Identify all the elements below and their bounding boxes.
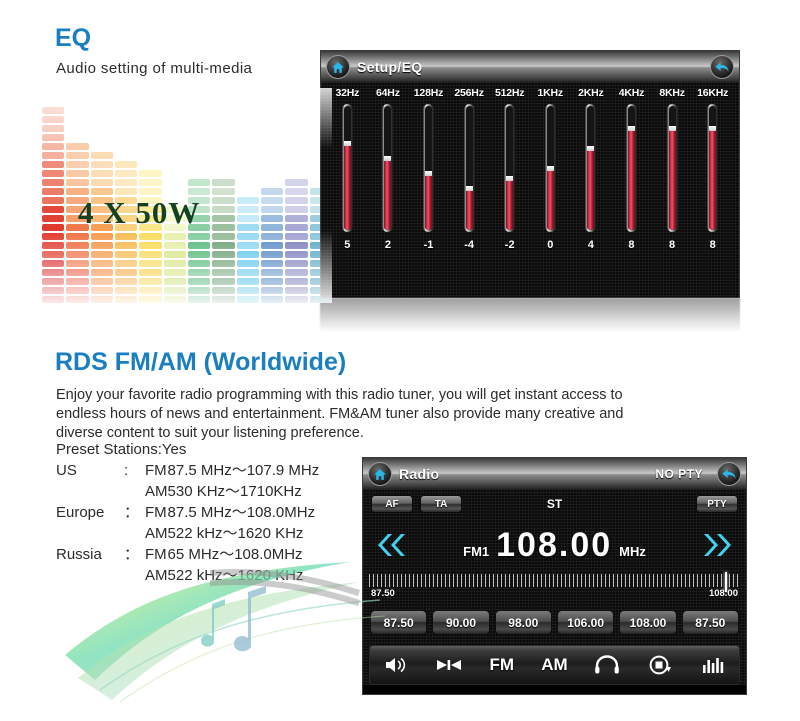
eq-band-label: 8KHz [659, 87, 684, 99]
region-am-range: 522 kHz～1620 KHz [168, 523, 320, 544]
spectrum-cell [188, 260, 210, 267]
tuning-position-marker [725, 572, 727, 592]
spectrum-cell [285, 188, 307, 195]
eq-slider-knob[interactable] [506, 176, 513, 181]
spectrum-cell [164, 287, 186, 294]
spectrum-cell [237, 278, 259, 285]
spectrum-cell [42, 224, 64, 231]
back-arrow-icon-glyph [721, 467, 737, 481]
spectrum-cell [115, 251, 137, 258]
spectrum-cell [91, 296, 113, 303]
band-tag: FM1 [463, 544, 489, 559]
spectrum-cell [212, 197, 234, 204]
eq-band: 16KHz8 [692, 87, 733, 298]
spectrum-cell [66, 152, 88, 159]
region-fm-band: FM [139, 502, 168, 523]
rds-heading: RDS FM/AM (Worldwide) [55, 348, 346, 377]
double-chevron-left-icon[interactable] [373, 530, 407, 560]
spectrum-cell [237, 206, 259, 213]
spectrum-cell [91, 287, 113, 294]
spectrum-cell [261, 233, 283, 240]
eq-slider-groove [384, 106, 391, 230]
eq-band-label: 512Hz [495, 87, 524, 99]
spectrum-cell [115, 269, 137, 276]
region-name: US [56, 460, 124, 481]
pty-button[interactable]: PTY [696, 495, 738, 513]
spectrum-cell [91, 242, 113, 249]
eq-panel-reflection [320, 298, 740, 332]
spectrum-cell [212, 278, 234, 285]
eq-slider-4[interactable] [504, 104, 515, 232]
eq-band: 8KHz8 [652, 87, 693, 298]
spectrum-cell [42, 152, 64, 159]
eq-band-value: -2 [505, 239, 515, 251]
spectrum-cell [66, 260, 88, 267]
tuning-scale-ticks [369, 574, 740, 587]
spectrum-cell [261, 260, 283, 267]
spectrum-cell [285, 296, 307, 303]
eq-slider-area: 32Hz564Hz2128Hz-1256Hz-4512Hz-21KHz02KHz… [321, 83, 739, 298]
region-fm-band: FM [139, 460, 168, 481]
spectrum-cell [188, 287, 210, 294]
eq-slider-knob[interactable] [587, 146, 594, 151]
spectrum-cell [42, 242, 64, 249]
spectrum-cell [42, 233, 64, 240]
spectrum-cell [91, 170, 113, 177]
spectrum-cell [212, 269, 234, 276]
spectrum-cell [91, 269, 113, 276]
spectrum-cell [212, 242, 234, 249]
spectrum-cell [139, 251, 161, 258]
spectrum-cell [115, 242, 137, 249]
spectrum-cell [91, 251, 113, 258]
back-arrow-icon-glyph [714, 60, 730, 74]
spectrum-cell [66, 242, 88, 249]
spectrum-cell [91, 179, 113, 186]
spectrum-cell [115, 296, 137, 303]
eq-slider-groove [669, 106, 676, 230]
spectrum-cell [164, 233, 186, 240]
tuning-scale[interactable]: 87.50 108.00 [363, 574, 746, 605]
af-button[interactable]: AF [371, 495, 413, 513]
spectrum-cell [42, 278, 64, 285]
spectrum-cell [237, 224, 259, 231]
region-colon: ： [124, 502, 139, 523]
spectrum-cell [188, 242, 210, 249]
eq-heading: EQ [55, 24, 91, 53]
spectrum-cell [42, 287, 64, 294]
spectrum-cell [42, 179, 64, 186]
spectrum-cell [115, 179, 137, 186]
region-name: Europe [56, 502, 124, 523]
spectrum-cell [164, 296, 186, 303]
spectrum-cell [237, 215, 259, 222]
radio-device-panel: Radio NO PTY AF TA ST PTY FM1 108.00 MHz [362, 457, 747, 695]
eq-slider-6[interactable] [585, 104, 596, 232]
spectrum-column [237, 88, 259, 303]
eq-band-label: 64Hz [376, 87, 400, 99]
region-fm-range: 87.5 MHz～107.9 MHz [168, 460, 320, 481]
spectrum-cell [115, 287, 137, 294]
spectrum-cell [91, 152, 113, 159]
spectrum-cell [237, 269, 259, 276]
double-chevron-right-icon[interactable] [702, 530, 736, 560]
region-fm-range: 87.5 MHz～108.0MHz [168, 502, 320, 523]
spectrum-cell [42, 197, 64, 204]
frequency-unit: MHz [619, 544, 646, 559]
eq-band: 512Hz-2 [489, 87, 530, 298]
ta-button[interactable]: TA [420, 495, 462, 513]
spectrum-cell [212, 179, 234, 186]
spectrum-cell [42, 116, 64, 123]
radio-title-text: Radio [399, 466, 439, 482]
eq-slider-7[interactable] [626, 104, 637, 232]
spectrum-cell [261, 251, 283, 258]
radio-titlebar: Radio NO PTY [363, 458, 746, 490]
spectrum-cell [285, 197, 307, 204]
spectrum-cell [42, 251, 64, 258]
radio-body: AF TA ST PTY FM1 108.00 MHz [363, 490, 746, 685]
frequency-center: FM1 108.00 MHz [407, 528, 702, 562]
spectrum-cell [285, 215, 307, 222]
spectrum-cell [42, 206, 64, 213]
eq-slider-groove [547, 106, 554, 230]
eq-slider-knob[interactable] [547, 166, 554, 171]
headphone-icon[interactable] [584, 650, 630, 680]
spectrum-cell [115, 233, 137, 240]
eq-slider-fill [628, 126, 635, 230]
spectrum-cell [285, 233, 307, 240]
spectrum-cell [42, 143, 64, 150]
am-button[interactable]: AM [531, 650, 577, 680]
region-row: US:FM87.5 MHz～107.9 MHz [56, 460, 319, 481]
station-preset-3[interactable]: 98.00 [495, 610, 552, 635]
eq-slider-fill [506, 176, 513, 230]
spectrum-cell [66, 161, 88, 168]
spectrum-cell [261, 206, 283, 213]
region-row: AM522 kHz～1620 KHz [56, 523, 319, 544]
spectrum-cell [212, 260, 234, 267]
eq-band: 1KHz0 [530, 87, 571, 298]
spectrum-cell [139, 242, 161, 249]
spectrum-cell [237, 296, 259, 303]
spectrum-cell [212, 206, 234, 213]
rds-paragraph: Enjoy your favorite radio programming wi… [56, 386, 666, 443]
eq-band-label: 16KHz [697, 87, 728, 99]
eq-band-value: -4 [464, 239, 474, 251]
spectrum-cell [42, 188, 64, 195]
eq-band-value: 8 [628, 239, 634, 251]
spectrum-cell [261, 296, 283, 303]
spectrum-cell [66, 251, 88, 258]
eq-band: 256Hz-4 [449, 87, 490, 298]
radio-bottom-toolbar: FMAM [369, 645, 740, 685]
spectrum-cell [139, 269, 161, 276]
region-row: AM530 KHz～1710KHz [56, 481, 319, 502]
spectrum-cell [285, 206, 307, 213]
spectrum-cell [66, 179, 88, 186]
eq-band-label: 256Hz [454, 87, 483, 99]
spectrum-cell [261, 188, 283, 195]
spectrum-cell [237, 197, 259, 204]
eq-band: 32Hz5 [327, 87, 368, 298]
eq-device-panel: Setup/EQ 32Hz564Hz2128Hz-1256Hz-4512Hz-2… [320, 50, 740, 298]
spectrum-cell [164, 269, 186, 276]
eq-slider-fill [425, 171, 432, 230]
spectrum-cell [139, 233, 161, 240]
spectrum-cell [42, 125, 64, 132]
pty-status-text: NO PTY [655, 467, 703, 481]
eq-band-value: 4 [588, 239, 594, 251]
spectrum-cell [115, 170, 137, 177]
eq-slider-fill [669, 126, 676, 230]
spectrum-cell [188, 296, 210, 303]
station-preset-5[interactable]: 108.00 [619, 610, 676, 635]
eq-slider-knob[interactable] [628, 126, 635, 131]
eq-slider-fill [587, 146, 594, 230]
eq-band: 64Hz2 [368, 87, 409, 298]
eq-band-label: 4KHz [619, 87, 644, 99]
spectrum-cell [212, 287, 234, 294]
back-arrow-icon[interactable] [717, 462, 741, 486]
spectrum-cell [261, 224, 283, 231]
eq-slider-3[interactable] [464, 104, 475, 232]
spectrum-cell [188, 188, 210, 195]
eq-slider-fill [709, 126, 716, 230]
fm-button[interactable]: FM [479, 650, 525, 680]
eq-titlebar: Setup/EQ [321, 51, 739, 83]
spectrum-cell [164, 251, 186, 258]
eq-slider-groove [709, 106, 716, 230]
spectrum-cell [285, 287, 307, 294]
eq-band-value: 8 [669, 239, 675, 251]
spectrum-cell [66, 278, 88, 285]
frequency-value: 108.00 [496, 528, 612, 562]
station-preset-row: 87.5090.0098.00106.00108.0087.50 [363, 605, 746, 641]
spectrum-cell [237, 233, 259, 240]
spectrum-cell [212, 251, 234, 258]
eq-slider-knob[interactable] [669, 126, 676, 131]
spectrum-cell [237, 287, 259, 294]
spectrum-cell [188, 269, 210, 276]
spectrum-cell [188, 233, 210, 240]
home-icon-glyph [331, 61, 345, 74]
eq-band-row: 32Hz564Hz2128Hz-1256Hz-4512Hz-21KHz02KHz… [327, 87, 733, 298]
eq-slider-groove [628, 106, 635, 230]
spectrum-cell [285, 269, 307, 276]
eq-band-value: 5 [344, 239, 350, 251]
eq-slider-knob[interactable] [344, 141, 351, 146]
eq-band-label: 2KHz [578, 87, 603, 99]
spectrum-cell [66, 233, 88, 240]
spectrum-cell [42, 260, 64, 267]
rds-controls-row: AF TA ST PTY [363, 490, 746, 518]
spectrum-cell [115, 278, 137, 285]
eq-slider-knob[interactable] [425, 171, 432, 176]
station-preset-6[interactable]: 87.50 [682, 610, 739, 635]
eq-slider-5[interactable] [545, 104, 556, 232]
spectrum-cell [91, 260, 113, 267]
eq-slider-knob[interactable] [384, 156, 391, 161]
eq-band-value: 0 [547, 239, 553, 251]
station-preset-4[interactable]: 106.00 [557, 610, 614, 635]
spectrum-cell [212, 296, 234, 303]
equalizer-icon[interactable] [690, 650, 736, 680]
spectrum-column [285, 88, 307, 303]
power-rating-caption: 4 X 50W [78, 195, 200, 231]
spectrum-cell [91, 161, 113, 168]
spectrum-cell [188, 251, 210, 258]
eq-band-label: 1KHz [538, 87, 563, 99]
eq-band-value: 2 [385, 239, 391, 251]
spectrum-cell [42, 170, 64, 177]
preset-stations-line: Preset Stations:Yes [56, 441, 186, 458]
eq-slider-knob[interactable] [466, 186, 473, 191]
spectrum-cell [66, 188, 88, 195]
eq-slider-9[interactable] [707, 104, 718, 232]
eq-slider-groove [466, 106, 473, 230]
region-row: Europe：FM87.5 MHz～108.0MHz [56, 502, 319, 523]
spectrum-cell [261, 242, 283, 249]
scale-max-label: 108.00 [709, 588, 738, 599]
eq-slider-fill [384, 156, 391, 230]
eq-slider-fill [466, 186, 473, 230]
home-icon[interactable] [368, 462, 392, 486]
spectrum-cell [42, 296, 64, 303]
spectrum-column [212, 88, 234, 303]
spectrum-cell [139, 287, 161, 294]
eq-slider-8[interactable] [667, 104, 678, 232]
home-icon[interactable] [326, 55, 350, 79]
eq-band: 2KHz4 [571, 87, 612, 298]
region-am-range: 530 KHz～1710KHz [168, 481, 320, 502]
spectrum-cell [261, 269, 283, 276]
spectrum-cell [237, 260, 259, 267]
spectrum-cell [115, 161, 137, 168]
spectrum-cell [188, 179, 210, 186]
frequency-display-row: FM1 108.00 MHz [363, 518, 746, 572]
spectrum-cell [115, 260, 137, 267]
spectrum-cell [139, 188, 161, 195]
spectrum-cell [285, 242, 307, 249]
spectrum-cell [42, 161, 64, 168]
spectrum-cell [212, 233, 234, 240]
spectrum-cell [42, 215, 64, 222]
spectrum-cell [212, 215, 234, 222]
spectrum-cell [237, 251, 259, 258]
spectrum-cell [66, 170, 88, 177]
spectrum-cell [212, 188, 234, 195]
eq-band: 4KHz8 [611, 87, 652, 298]
tuning-scale-labels: 87.50 108.00 [369, 588, 740, 599]
spectrum-cell [115, 188, 137, 195]
eq-slider-fill [547, 166, 554, 230]
spectrum-cell [261, 215, 283, 222]
eq-slider-1[interactable] [382, 104, 393, 232]
home-icon-glyph [373, 468, 387, 481]
eq-slider-fill [344, 141, 351, 230]
scan-loop-icon[interactable] [637, 650, 683, 680]
spectrum-cell [66, 296, 88, 303]
station-preset-2[interactable]: 90.00 [432, 610, 489, 635]
eq-band-label: 128Hz [414, 87, 443, 99]
eq-slider-2[interactable] [423, 104, 434, 232]
eq-slider-groove [506, 106, 513, 230]
balance-icon[interactable] [426, 650, 472, 680]
spectrum-cell [139, 260, 161, 267]
spectrum-cell [285, 278, 307, 285]
spectrum-cell [139, 179, 161, 186]
spectrum-cell [261, 278, 283, 285]
spectrum-cell [42, 107, 64, 114]
spectrum-cell [285, 251, 307, 258]
spectrum-cell [164, 278, 186, 285]
eq-slider-knob[interactable] [709, 126, 716, 131]
spectrum-cell [164, 242, 186, 249]
spectrum-cell [261, 197, 283, 204]
spectrum-cell [66, 287, 88, 294]
spectrum-cell [91, 278, 113, 285]
music-notes-graphic [60, 560, 390, 710]
spectrum-cell [164, 260, 186, 267]
spectrum-cell [285, 224, 307, 231]
spectrum-column [261, 88, 283, 303]
region-am-band: AM [139, 523, 168, 544]
spectrum-cell [139, 170, 161, 177]
region-colon: : [124, 460, 139, 481]
eq-subtitle: Audio setting of multi-media [56, 60, 252, 77]
spectrum-cell [285, 179, 307, 186]
eq-band-value: 8 [710, 239, 716, 251]
spectrum-cell [285, 260, 307, 267]
spectrum-column [42, 88, 64, 303]
spectrum-cell [139, 296, 161, 303]
eq-band-label: 32Hz [335, 87, 359, 99]
eq-slider-groove [344, 106, 351, 230]
eq-slider-groove [425, 106, 432, 230]
eq-band-value: -1 [424, 239, 434, 251]
spectrum-cell [91, 188, 113, 195]
eq-title-text: Setup/EQ [357, 59, 422, 75]
spectrum-cell [66, 143, 88, 150]
spectrum-cell [237, 242, 259, 249]
spectrum-cell [139, 278, 161, 285]
eq-slider-0[interactable] [342, 104, 353, 232]
spectrum-cell [212, 224, 234, 231]
spectrum-cell [91, 233, 113, 240]
spectrum-cell [42, 134, 64, 141]
spectrum-cell [261, 287, 283, 294]
back-arrow-icon[interactable] [710, 55, 734, 79]
spectrum-cell [66, 269, 88, 276]
eq-slider-groove [587, 106, 594, 230]
spectrum-cell [42, 269, 64, 276]
region-am-band: AM [139, 481, 168, 502]
eq-band: 128Hz-1 [408, 87, 449, 298]
spectrum-cell [188, 278, 210, 285]
